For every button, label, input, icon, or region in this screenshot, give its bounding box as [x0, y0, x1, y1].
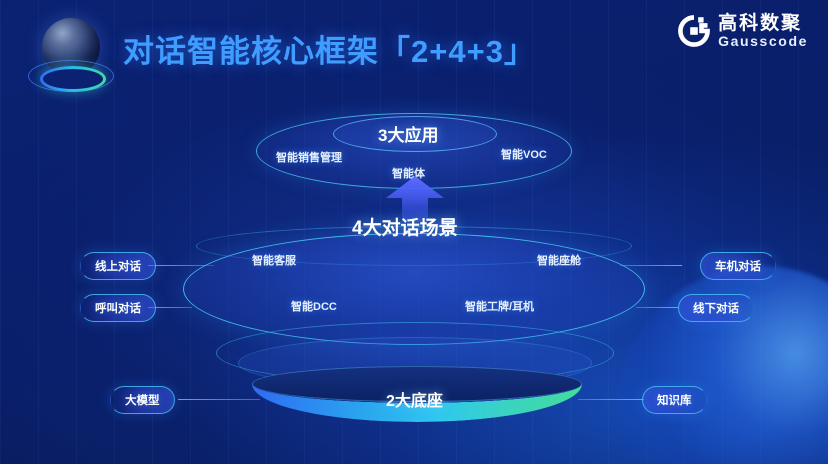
scenario-label-cockpit: 智能座舱: [537, 252, 581, 268]
pill-call-dialogue[interactable]: 呼叫对话: [80, 294, 156, 322]
scenarios-title: 4大对话场景: [352, 213, 458, 240]
brand-logo: 高科数聚 Gausscode: [677, 14, 808, 48]
scenario-label-customer-service: 智能客服: [252, 252, 296, 268]
connector-line-llm: [178, 399, 260, 400]
slide-canvas: 对话智能核心框架「2+4+3」 高科数聚 Gausscode 3大应用 智能销售…: [0, 0, 828, 464]
sphere-pedestal-icon: [22, 14, 114, 106]
brand-name-cn: 高科数聚: [718, 14, 808, 33]
foundation-title: 2大底座: [386, 387, 443, 411]
application-label-sales: 智能销售管理: [276, 149, 342, 165]
connector-line-offline: [636, 307, 678, 308]
pill-knowledge-base[interactable]: 知识库: [642, 386, 707, 414]
pill-vehicle-dialogue[interactable]: 车机对话: [700, 252, 776, 280]
connector-line-vehicle: [620, 265, 682, 266]
page-title: 对话智能核心框架「2+4+3」: [123, 26, 536, 71]
pill-offline-dialogue[interactable]: 线下对话: [678, 294, 754, 322]
sphere-inner-ring-shape: [40, 66, 106, 92]
scenario-label-badge-headset: 智能工牌/耳机: [465, 298, 534, 314]
applications-title: 3大应用: [378, 121, 438, 146]
brand-name-en: Gausscode: [718, 34, 808, 48]
scenario-label-dcc: 智能DCC: [291, 298, 337, 314]
pill-large-model[interactable]: 大模型: [110, 386, 175, 414]
connector-line-kb: [578, 399, 644, 400]
gausscode-g-mark-icon: [677, 14, 711, 48]
pill-online-dialogue[interactable]: 线上对话: [80, 252, 156, 280]
application-label-voc: 智能VOC: [501, 146, 547, 162]
